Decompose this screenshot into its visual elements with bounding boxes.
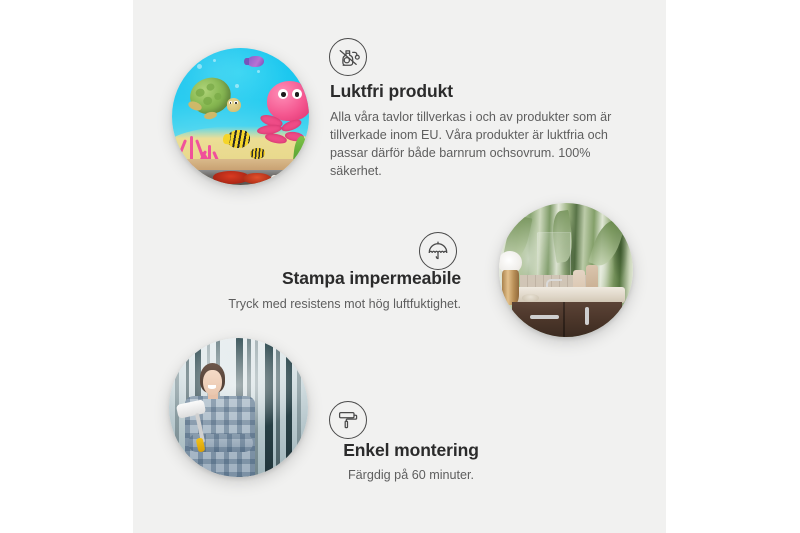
small-striped-fish (250, 148, 265, 159)
yellow-striped-fish (227, 130, 250, 148)
feature-title: Enkel montering (261, 440, 561, 462)
woman-figure (180, 363, 263, 477)
feature-text-odourless: Luktfri produkt Alla våra tavlor tillver… (330, 81, 630, 180)
feature-body: Färgdig på 60 minuter. (261, 467, 561, 485)
feature-text-mounting: Enkel montering Färgdig på 60 minuter. (261, 440, 561, 485)
purple-fish (247, 56, 263, 67)
turtle-illustration (187, 78, 242, 125)
feature-text-waterproof: Stampa impermeabile Tryck med resistens … (133, 268, 499, 314)
paint-roller-icon (329, 401, 367, 439)
feature-body: Tryck med resistens mot hög luftfuktighe… (133, 296, 461, 314)
screenshot-root: Luktfri produkt Alla våra tavlor tillver… (0, 0, 800, 533)
feature-body: Alla våra tavlor tillverkas i och av pro… (330, 109, 630, 181)
feature-image-bathroom (499, 203, 633, 337)
no-odour-icon (329, 38, 367, 76)
gold-vase (502, 270, 519, 305)
umbrella-icon (419, 232, 457, 270)
feature-image-underwater (172, 48, 309, 185)
feature-title: Luktfri produkt (330, 81, 630, 103)
bathroom-vanity-cabinet (512, 302, 622, 337)
content-panel: Luktfri produkt Alla våra tavlor tillver… (133, 0, 666, 533)
bathroom-mirror (537, 232, 572, 278)
feature-title: Stampa impermeabile (133, 268, 461, 290)
